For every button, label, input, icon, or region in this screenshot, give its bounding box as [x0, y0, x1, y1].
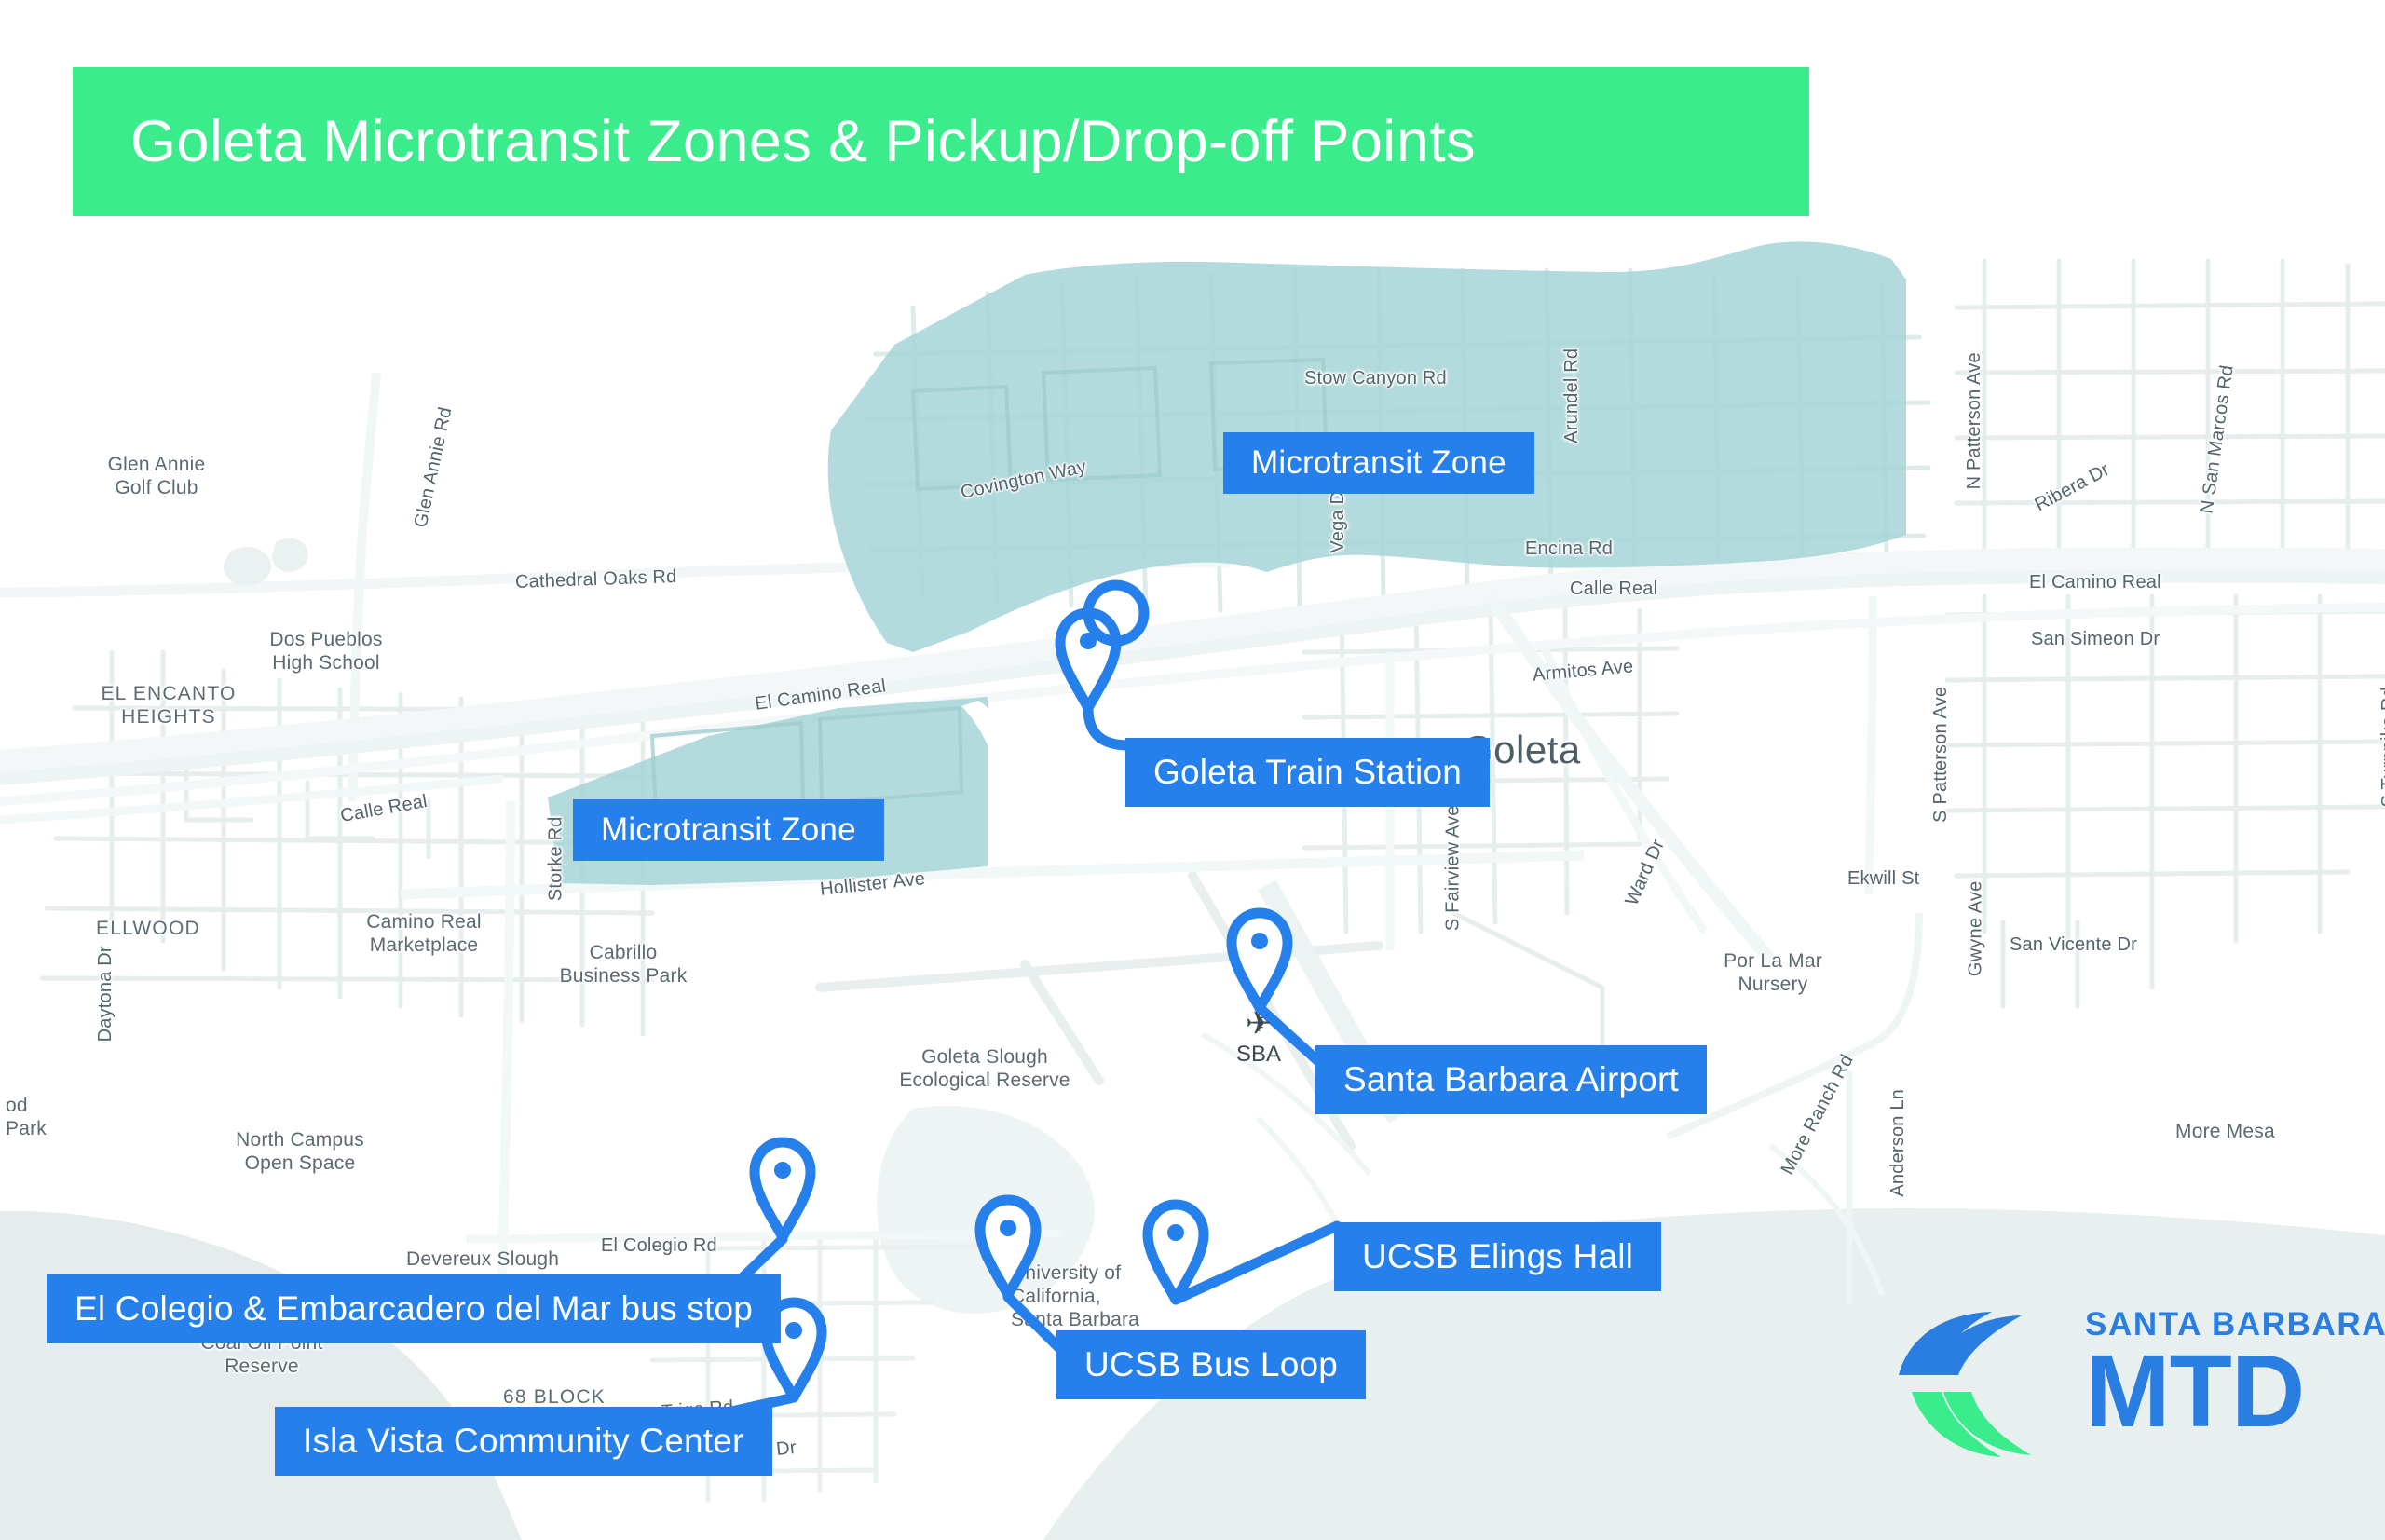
map-infographic: Glen Annie Golf ClubGlen Annie RdCathedr…: [0, 0, 2385, 1540]
callout-microtransit-zone-north[interactable]: Microtransit Zone: [1223, 432, 1534, 494]
mtd-wordmark: SANTA BARBARA MTD: [2085, 1308, 2318, 1438]
airplane-icon: ✈: [1226, 1008, 1291, 1040]
callout-isla-vista-community-center[interactable]: Isla Vista Community Center: [275, 1407, 772, 1476]
mtd-acronym: MTD: [2085, 1344, 2318, 1438]
callout-santa-barbara-airport[interactable]: Santa Barbara Airport: [1315, 1045, 1707, 1114]
mtd-wave-mark-icon: [1891, 1302, 2078, 1470]
callout-ucsb-elings-hall[interactable]: UCSB Elings Hall: [1334, 1222, 1661, 1291]
airport-marker: ✈ SBA: [1226, 1008, 1291, 1068]
page-title: Goleta Microtransit Zones & Pickup/Drop-…: [73, 108, 1476, 175]
airport-code-label: SBA: [1226, 1042, 1291, 1068]
callout-el-colegio-bus-stop[interactable]: El Colegio & Embarcadero del Mar bus sto…: [47, 1274, 781, 1343]
callout-ucsb-bus-loop[interactable]: UCSB Bus Loop: [1056, 1330, 1366, 1399]
title-banner: Goleta Microtransit Zones & Pickup/Drop-…: [73, 67, 1809, 216]
callout-goleta-train-station[interactable]: Goleta Train Station: [1125, 738, 1490, 807]
callout-microtransit-zone-west[interactable]: Microtransit Zone: [573, 799, 884, 861]
